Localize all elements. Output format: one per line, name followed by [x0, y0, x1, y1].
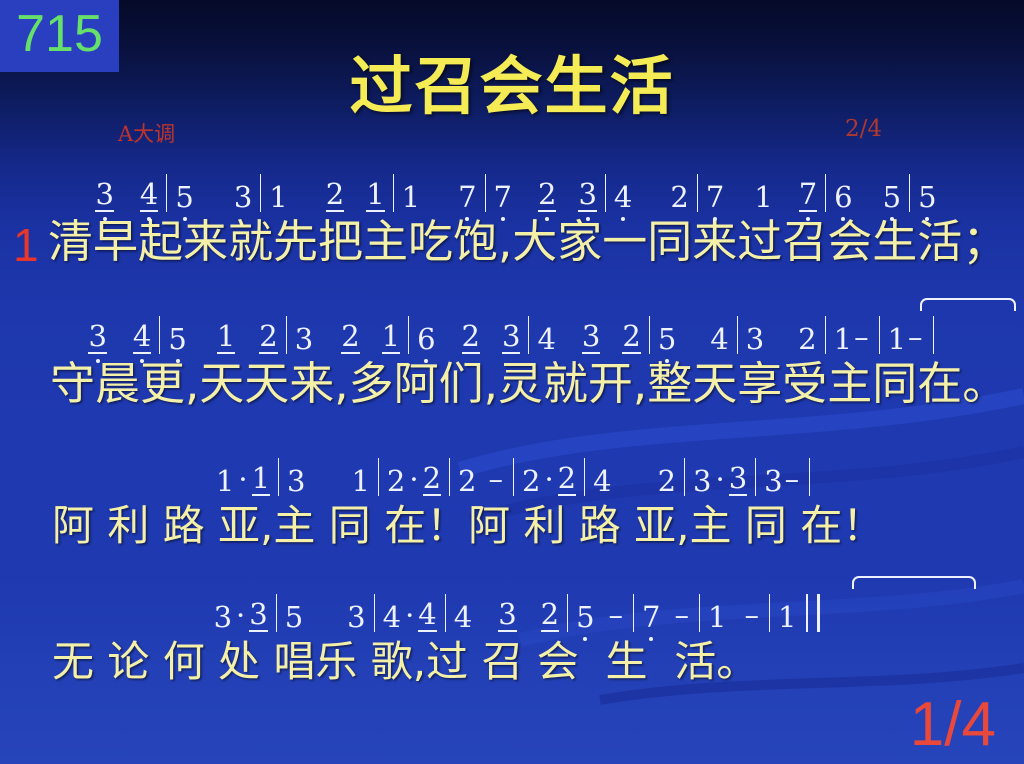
note: 2: [658, 466, 676, 496]
barline: [567, 594, 568, 632]
barline: [528, 316, 529, 354]
note: 3: [287, 466, 305, 496]
note: 2: [458, 466, 476, 496]
barline: [633, 594, 634, 632]
note: 7: [706, 182, 724, 212]
sustain-dash: –: [487, 462, 506, 496]
note: 3: [746, 324, 764, 354]
sustain-dash: –: [852, 320, 871, 354]
note: 1: [351, 466, 369, 496]
barline: [699, 594, 700, 632]
note: 7: [642, 602, 660, 632]
note: 3: [347, 602, 365, 632]
note: 7: [458, 182, 476, 212]
note: 4: [593, 466, 611, 496]
note: 3: [498, 599, 516, 632]
music-system-3: 1 · 1 3 1 2 · 2 2 – 2 · 2 4 2 3 · 3 3–: [0, 442, 1024, 558]
barline: [825, 316, 826, 354]
final-double-barline: [806, 594, 820, 632]
notation-row-4: 3 · 3 5 3 4 · 4 4 3 2 5 – 7 – 1 – 1: [0, 578, 1024, 632]
note: 3: [234, 182, 252, 212]
note: 3: [729, 463, 747, 496]
sustain-dash: –: [607, 598, 626, 632]
note: 4: [537, 324, 555, 354]
note: 5: [658, 324, 676, 354]
barline: [879, 316, 880, 354]
lyrics-row-1: 清早起来就先把主吃饱,大家一同来过召会生活；: [0, 212, 1024, 274]
note: 1: [366, 179, 384, 212]
barline: [684, 458, 685, 496]
barline: [697, 174, 698, 212]
note: 1: [402, 182, 420, 212]
barline: [260, 174, 261, 212]
barline: [378, 458, 379, 496]
slide-canvas: 715 过召会生活 A大调 2/4 1 3 4 5 3 1 2 1 1 7 7 …: [0, 0, 1024, 764]
barline: [449, 458, 450, 496]
key-signature: A大调: [118, 118, 175, 148]
note: 3: [578, 179, 596, 212]
notation-row-1: 3 4 5 3 1 2 1 1 7 7 2 3 4 2 7 1 7 6 5: [0, 158, 1024, 212]
note: 4: [418, 599, 436, 632]
note: 1: [834, 324, 852, 354]
barline: [755, 458, 756, 496]
note: 1: [216, 466, 234, 496]
note: 3: [693, 466, 711, 496]
augmentation-dot: ·: [234, 462, 251, 496]
note: 3: [502, 321, 520, 354]
note: 3: [582, 321, 600, 354]
time-signature: 2/4: [845, 116, 882, 142]
note: 5: [168, 324, 186, 354]
note: 2: [538, 179, 556, 212]
augmentation-dot: ·: [405, 462, 422, 496]
barline: [286, 316, 287, 354]
note: 2: [423, 463, 441, 496]
page-title: 过召会生活: [0, 36, 1024, 127]
note: 2: [558, 463, 576, 496]
note: 4: [383, 602, 401, 632]
note: 1: [217, 321, 235, 354]
note: 3: [95, 179, 113, 212]
note: 1: [252, 463, 270, 496]
note: 7: [494, 182, 512, 212]
note: 2: [259, 321, 277, 354]
note: 2: [622, 321, 640, 354]
note: 2: [798, 324, 816, 354]
lyrics-row-4: 无 论 何 处 唱乐 歌,过 召 会 生 活。: [0, 632, 1024, 694]
note: 1: [708, 602, 726, 632]
barline: [393, 174, 394, 212]
note: 2: [326, 179, 344, 212]
note: 1: [269, 182, 287, 212]
note: 3: [764, 466, 782, 496]
augmentation-dot: ·: [232, 598, 249, 632]
barline: [933, 316, 934, 354]
sustain-dash: –: [906, 320, 925, 354]
note: 4: [140, 179, 158, 212]
music-system-1: 3 4 5 3 1 2 1 1 7 7 2 3 4 2 7 1 7 6 5: [0, 158, 1024, 274]
note: 5: [883, 182, 901, 212]
barline: [408, 316, 409, 354]
note: 4: [614, 182, 632, 212]
barline: [584, 458, 585, 496]
note: 5: [175, 182, 193, 212]
lyrics-row-3: 阿 利 路 亚,主 同 在！阿 利 路 亚,主 同 在！: [0, 496, 1024, 558]
note: 3: [249, 599, 267, 632]
note: 3: [88, 321, 106, 354]
barline: [737, 316, 738, 354]
barline: [769, 594, 770, 632]
note: 6: [834, 182, 852, 212]
note: 2: [541, 599, 559, 632]
note: 7: [799, 179, 817, 212]
note: 2: [462, 321, 480, 354]
augmentation-dot: ·: [540, 462, 557, 496]
note: 2: [341, 321, 359, 354]
note: 1: [888, 324, 906, 354]
note: 5: [918, 182, 936, 212]
note: 2: [387, 466, 405, 496]
note: 1: [778, 602, 796, 632]
sustain-dash: –: [742, 598, 761, 632]
music-system-2: 3 4 5 1 2 3 2 1 6 2 3 4 3 2 5 4 3 2 1–: [0, 300, 1024, 416]
barline: [159, 316, 160, 354]
notation-row-3: 1 · 1 3 1 2 · 2 2 – 2 · 2 4 2 3 · 3 3–: [0, 442, 1024, 496]
note: 5: [576, 602, 594, 632]
notation-row-2: 3 4 5 1 2 3 2 1 6 2 3 4 3 2 5 4 3 2 1–: [0, 300, 1024, 354]
barline: [649, 316, 650, 354]
barline: [825, 174, 826, 212]
barline: [374, 594, 375, 632]
barline: [513, 458, 514, 496]
note: 4: [133, 321, 151, 354]
barline: [485, 174, 486, 212]
music-system-4: 3 · 3 5 3 4 · 4 4 3 2 5 – 7 – 1 – 1: [0, 578, 1024, 694]
barline: [809, 458, 810, 496]
barline: [909, 174, 910, 212]
note: 2: [522, 466, 540, 496]
sustain-dash: –: [783, 462, 802, 496]
lyrics-row-2: 守晨更,天天来,多阿们,灵就开,整天享受主同在。: [0, 354, 1024, 416]
note: 1: [754, 182, 772, 212]
page-indicator: 1/4: [910, 694, 996, 756]
note: 6: [417, 324, 435, 354]
barline: [445, 594, 446, 632]
note: 4: [710, 324, 728, 354]
tie-bracket: [852, 576, 976, 589]
note: 3: [295, 324, 313, 354]
augmentation-dot: ·: [711, 462, 728, 496]
note: 5: [285, 602, 303, 632]
tie-bracket: [920, 298, 1016, 311]
barline: [278, 458, 279, 496]
sustain-dash: –: [673, 598, 692, 632]
note: 1: [382, 321, 400, 354]
note: 3: [214, 602, 232, 632]
barline: [276, 594, 277, 632]
augmentation-dot: ·: [401, 598, 418, 632]
barline: [605, 174, 606, 212]
note: 2: [670, 182, 688, 212]
barline: [166, 174, 167, 212]
note: 4: [454, 602, 472, 632]
